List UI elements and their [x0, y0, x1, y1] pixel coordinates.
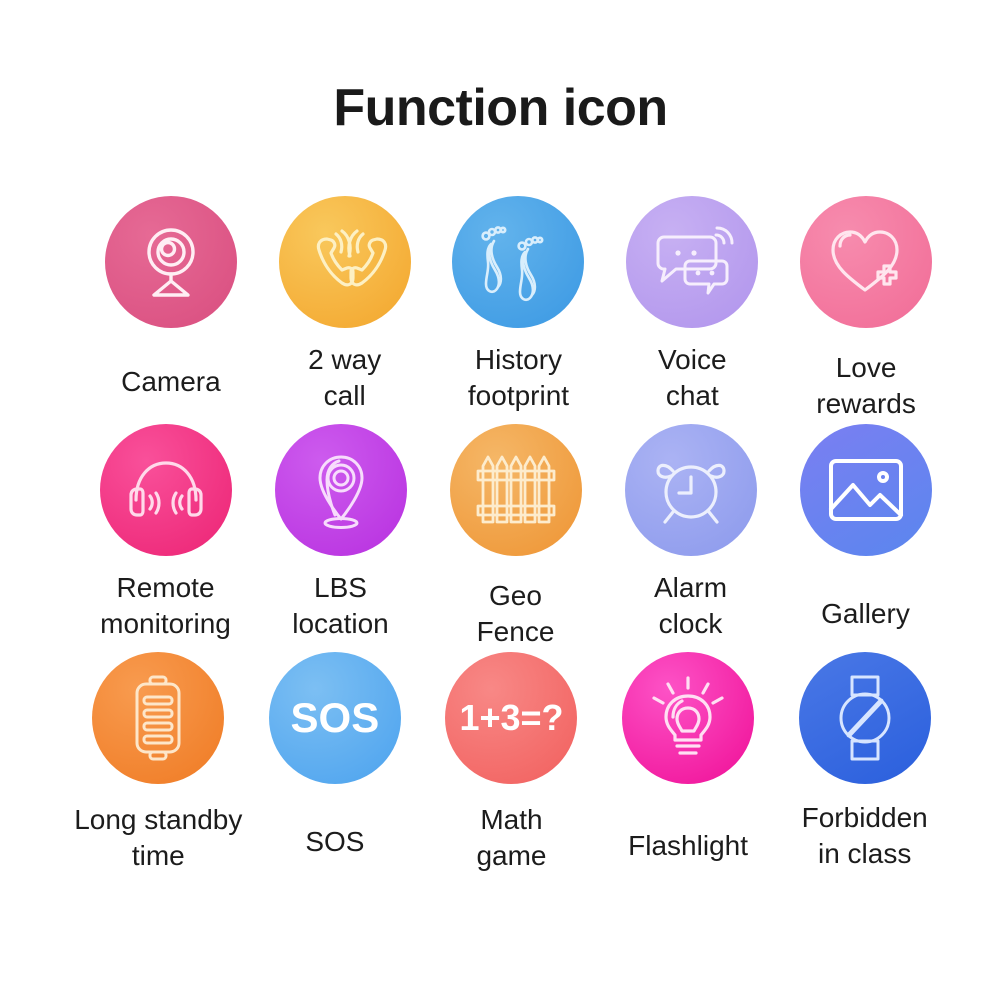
grid-item-alarm-clock[interactable]: Alarm clock	[603, 424, 778, 641]
no-smartwatch-bubble[interactable]	[799, 652, 931, 784]
item-label: Love rewards	[816, 350, 916, 421]
grid-item-geo-fence[interactable]: Geo Fence	[428, 424, 603, 649]
headphones-bubble[interactable]	[100, 424, 232, 556]
sos-bubble[interactable]: SOS	[269, 652, 401, 784]
webcam-icon	[132, 223, 210, 301]
grid-item-remote-monitoring[interactable]: Remote monitoring	[78, 424, 253, 641]
item-label: Flashlight	[628, 828, 748, 864]
grid-item-camera[interactable]: Camera	[84, 196, 258, 400]
item-label: Math game	[476, 802, 546, 873]
item-label: LBS location	[292, 570, 389, 641]
map-pin-icon	[305, 449, 377, 531]
item-label: SOS	[305, 824, 364, 860]
headphones-icon	[123, 455, 209, 525]
photo-icon	[827, 457, 905, 523]
item-label: 2 way call	[308, 342, 381, 413]
photo-bubble[interactable]	[800, 424, 932, 556]
icon-row: Remote monitoring LBS location	[48, 424, 953, 652]
lightbulb-bubble[interactable]	[622, 652, 754, 784]
no-smartwatch-icon	[832, 675, 898, 761]
alarm-clock-icon	[651, 450, 731, 530]
page-title: Function icon	[0, 78, 1001, 138]
lightbulb-icon	[648, 676, 728, 760]
grid-item-flashlight[interactable]: Flashlight	[600, 652, 777, 864]
speech-bubbles-bubble[interactable]	[626, 196, 758, 328]
two-way-call-bubble[interactable]	[279, 196, 411, 328]
item-label: Gallery	[821, 596, 910, 632]
grid-item-gallery[interactable]: Gallery	[778, 424, 953, 632]
heart-plus-bubble[interactable]	[800, 196, 932, 328]
icon-row: Camera	[48, 196, 953, 424]
item-label: Voice chat	[658, 342, 727, 413]
math-equation-icon: 1+3=?	[459, 700, 563, 736]
grid-item-math-game[interactable]: 1+3=? Math game	[423, 652, 600, 873]
item-label: Long standby time	[74, 802, 242, 873]
speech-bubbles-icon	[652, 225, 732, 299]
item-label: Geo Fence	[477, 578, 555, 649]
item-label: Camera	[121, 364, 221, 400]
footprints-bubble[interactable]	[452, 196, 584, 328]
grid-item-forbidden-in-class[interactable]: Forbidden in class	[776, 652, 953, 871]
math-bubble[interactable]: 1+3=?	[445, 652, 577, 784]
heart-plus-icon	[827, 226, 905, 298]
grid-item-lbs-location[interactable]: LBS location	[253, 424, 428, 641]
grid-item-long-standby-time[interactable]: Long standby time	[70, 652, 247, 873]
battery-bubble[interactable]	[92, 652, 224, 784]
icon-grid: Camera	[48, 196, 953, 880]
grid-item-sos[interactable]: SOS SOS	[247, 652, 424, 860]
icon-row: Long standby time SOS SOS 1+3=? Math gam…	[48, 652, 953, 880]
item-label: History footprint	[468, 342, 569, 413]
footprints-icon	[477, 220, 559, 304]
grid-item-love-rewards[interactable]: Love rewards	[779, 196, 953, 421]
map-pin-bubble[interactable]	[275, 424, 407, 556]
item-label: Alarm clock	[654, 570, 727, 641]
function-icon-poster: Function icon Camera	[0, 0, 1001, 1001]
sos-text-icon: SOS	[291, 697, 380, 739]
grid-item-history-footprint[interactable]: History footprint	[432, 196, 606, 413]
item-label: Remote monitoring	[100, 570, 231, 641]
grid-item-2-way-call[interactable]: 2 way call	[258, 196, 432, 413]
fence-bubble[interactable]	[450, 424, 582, 556]
camera-bubble[interactable]	[105, 196, 237, 328]
item-label: Forbidden in class	[802, 800, 928, 871]
alarm-clock-bubble[interactable]	[625, 424, 757, 556]
battery-icon	[129, 675, 187, 761]
fence-icon	[476, 452, 556, 528]
grid-item-voice-chat[interactable]: Voice chat	[605, 196, 779, 413]
two-way-call-icon	[305, 223, 385, 301]
